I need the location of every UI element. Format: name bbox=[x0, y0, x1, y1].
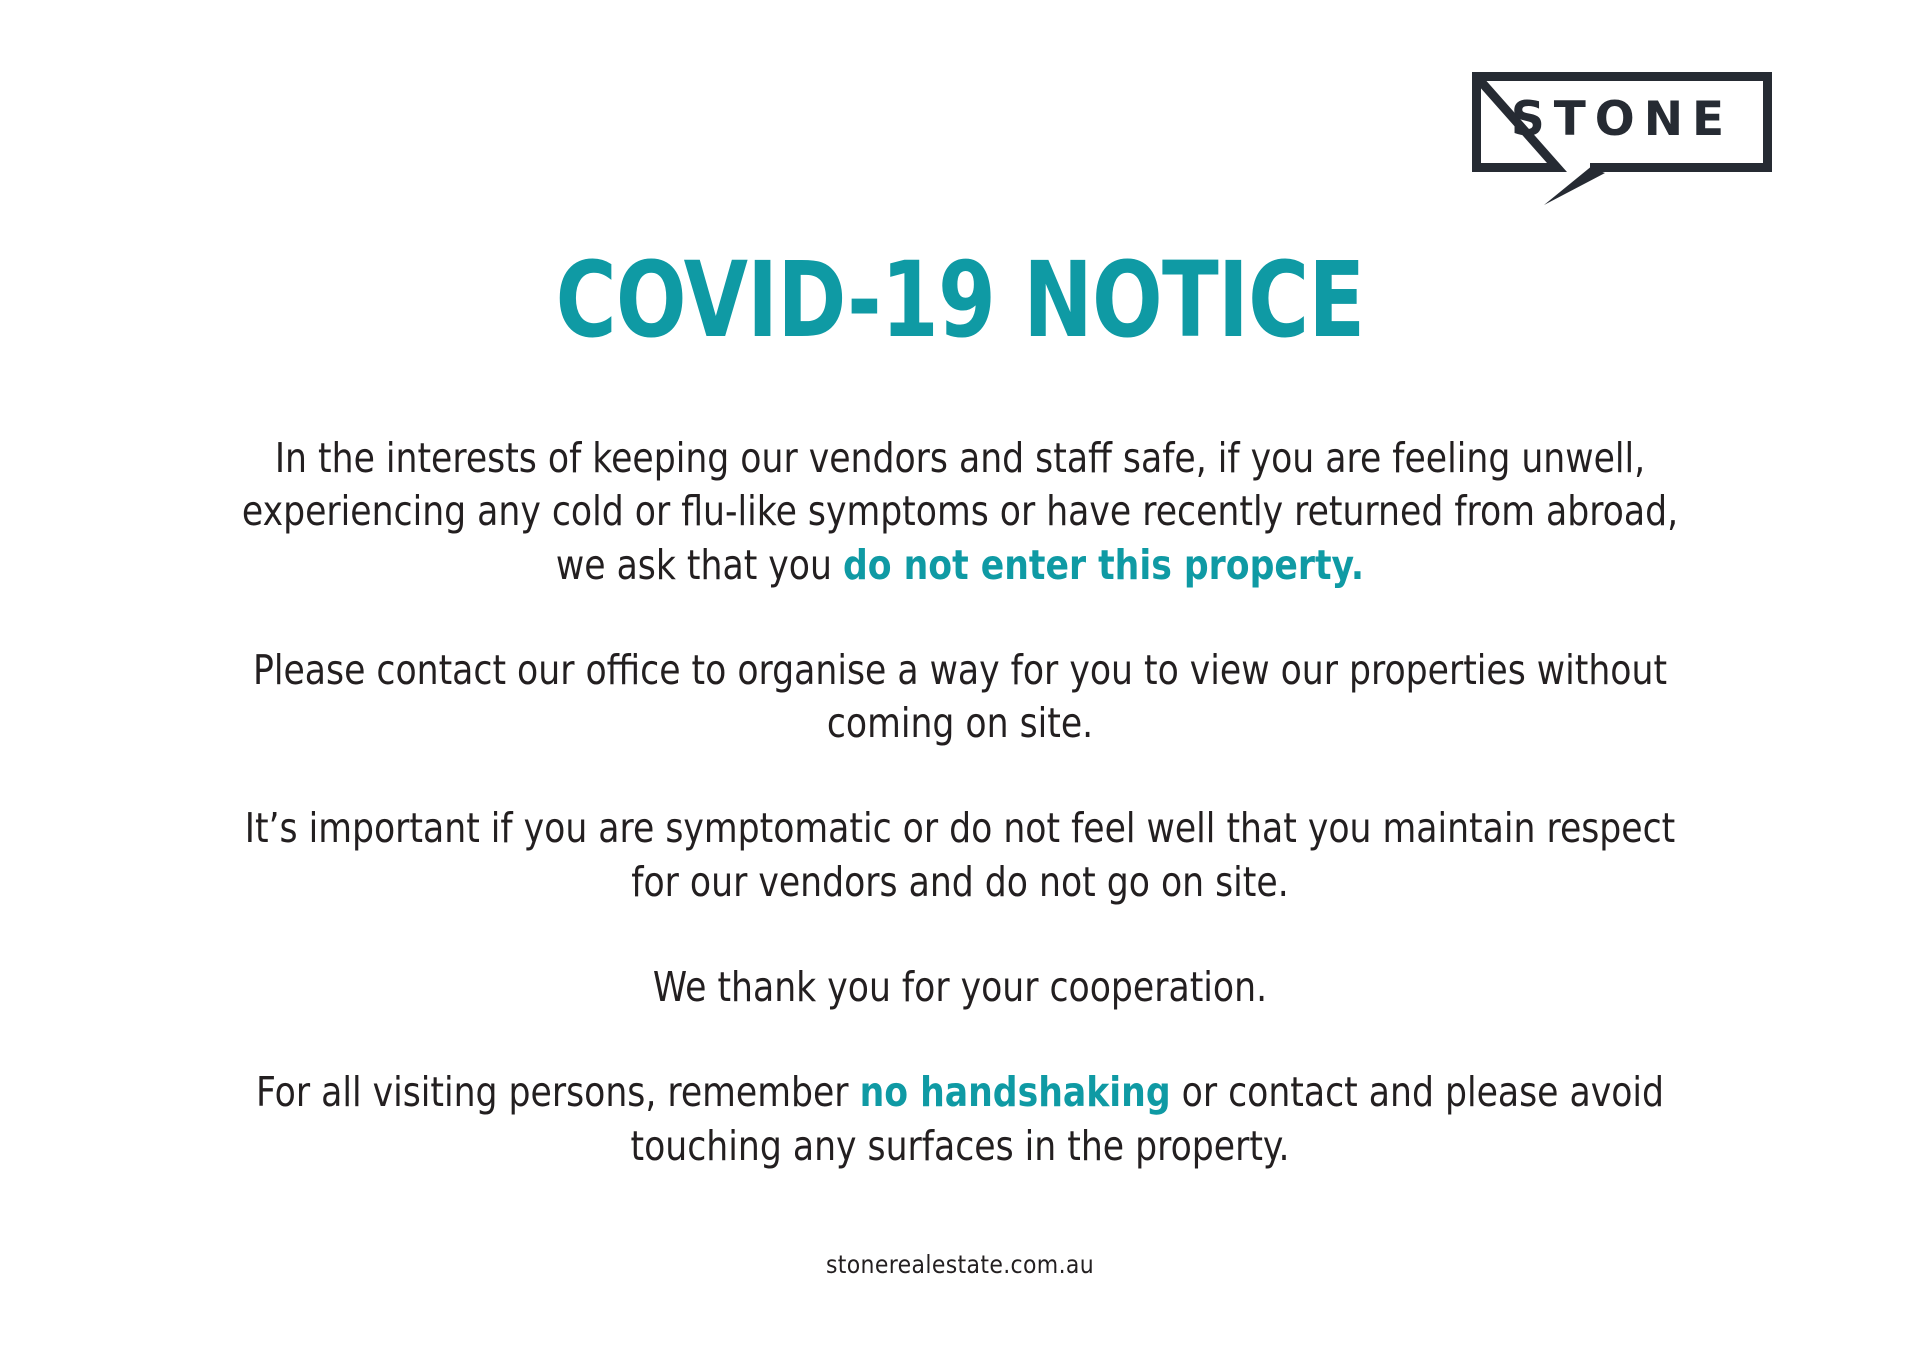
notice-paragraph-1: In the interests of keeping our vendors … bbox=[242, 432, 1679, 592]
paragraph-text-4-1: We thank you for your cooperation. bbox=[653, 963, 1267, 1011]
covid-notice-poster: STONE COVID-19 NOTICE In the interests o… bbox=[0, 0, 1920, 1357]
emphasis-text-1-2: do not enter this property. bbox=[843, 541, 1364, 589]
notice-body: In the interests of keeping our vendors … bbox=[110, 432, 1810, 1173]
notice-paragraph-3: It’s important if you are symptomatic or… bbox=[242, 802, 1679, 909]
notice-paragraph-2: Please contact our office to organise a … bbox=[242, 644, 1679, 751]
notice-paragraph-4: We thank you for your cooperation. bbox=[242, 961, 1679, 1014]
stone-logo-text: STONE bbox=[1511, 92, 1733, 147]
stone-speech-bubble-icon: STONE bbox=[1472, 72, 1772, 212]
paragraph-text-2-1: Please contact our office to organise a … bbox=[253, 646, 1667, 747]
paragraph-text-5-1: For all visiting persons, remember bbox=[256, 1068, 860, 1116]
stone-logo: STONE bbox=[1472, 72, 1772, 212]
emphasis-text-5-2: no handshaking bbox=[860, 1068, 1171, 1116]
paragraph-text-3-1: It’s important if you are symptomatic or… bbox=[245, 804, 1676, 905]
notice-paragraph-5: For all visiting persons, remember no ha… bbox=[242, 1066, 1679, 1173]
page-title: COVID-19 NOTICE bbox=[192, 248, 1728, 352]
footer-website: stonerealestate.com.au bbox=[115, 1250, 1805, 1279]
